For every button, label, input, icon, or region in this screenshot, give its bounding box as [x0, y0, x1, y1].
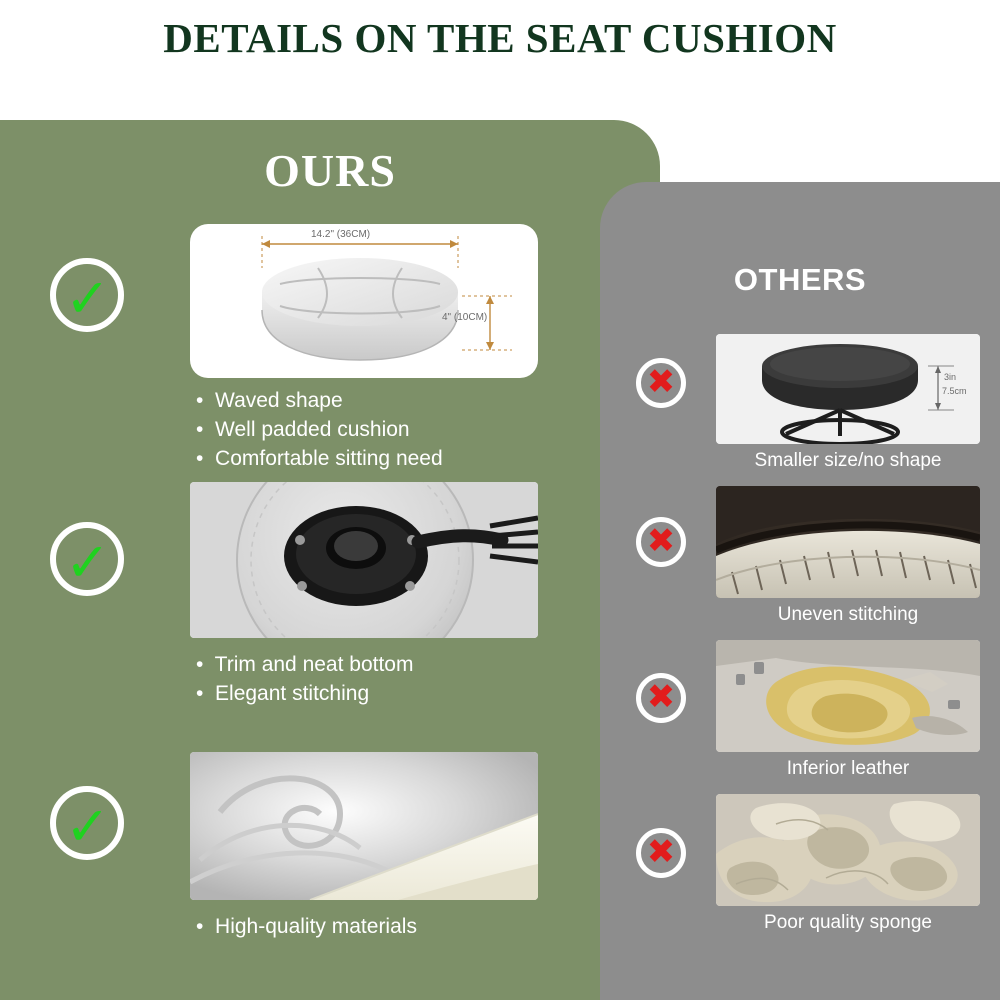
others-caption-4: Poor quality sponge — [703, 912, 993, 934]
ours-bullet: • High-quality materials — [196, 912, 417, 941]
check-circle-icon: ✓ — [50, 258, 124, 332]
bottom-plate-illustration — [190, 482, 538, 638]
comparison-infographic: DETAILS ON THE SEAT CUSHION OURS OTHERS … — [0, 0, 1000, 1000]
ours-bullet-list-2: • Trim and neat bottom • Elegant stitchi… — [196, 650, 413, 708]
check-glyph: ✓ — [65, 794, 110, 860]
ours-bullet: • Comfortable sitting need — [196, 444, 443, 473]
height-dimension-label: 4" (10CM) — [442, 312, 487, 323]
check-circle-icon: ✓ — [50, 522, 124, 596]
others-caption-1: Smaller size/no shape — [703, 450, 993, 472]
x-glyph: ✖ — [641, 675, 681, 719]
cushion-dimension-photo: 14.2" (36CM) 4" (10CM) — [190, 224, 538, 378]
ours-bullet-list-3: • High-quality materials — [196, 912, 417, 941]
uneven-stitching-illustration — [716, 486, 980, 598]
cushion-bottom-plate-photo — [190, 482, 538, 638]
width-dimension-label: 14.2" (36CM) — [311, 229, 370, 240]
x-glyph: ✖ — [641, 360, 681, 404]
check-glyph: ✓ — [65, 266, 110, 332]
other-height-cm-label: 7.5cm — [942, 386, 967, 396]
others-heading: OTHERS — [600, 262, 1000, 298]
ours-heading: OURS — [0, 144, 660, 197]
x-circle-icon: ✖ — [636, 517, 686, 567]
check-circle-icon: ✓ — [50, 786, 124, 860]
x-glyph: ✖ — [641, 519, 681, 563]
inferior-leather-illustration — [716, 640, 980, 752]
uneven-stitching-photo — [716, 486, 980, 598]
ours-bullet: • Elegant stitching — [196, 679, 413, 708]
x-circle-icon: ✖ — [636, 673, 686, 723]
x-glyph: ✖ — [641, 830, 681, 874]
small-stool-illustration — [716, 334, 980, 444]
ours-bullet-list-1: • Waved shape • Well padded cushion • Co… — [196, 386, 443, 473]
other-height-in-label: 3in — [944, 372, 956, 382]
ours-bullet: • Waved shape — [196, 386, 443, 415]
poor-sponge-photo — [716, 794, 980, 906]
small-black-stool-photo: 3in 7.5cm — [716, 334, 980, 444]
page-title: DETAILS ON THE SEAT CUSHION — [0, 14, 1000, 62]
ours-bullet: • Trim and neat bottom — [196, 650, 413, 679]
x-circle-icon: ✖ — [636, 828, 686, 878]
poor-sponge-illustration — [716, 794, 980, 906]
x-circle-icon: ✖ — [636, 358, 686, 408]
ours-bullet: • Well padded cushion — [196, 415, 443, 444]
others-caption-2: Uneven stitching — [703, 604, 993, 626]
foam-material-photo — [190, 752, 538, 900]
cushion-dimension-illustration — [190, 224, 538, 378]
others-caption-3: Inferior leather — [703, 758, 993, 780]
inferior-leather-photo — [716, 640, 980, 752]
foam-material-illustration — [190, 752, 538, 900]
check-glyph: ✓ — [65, 530, 110, 596]
